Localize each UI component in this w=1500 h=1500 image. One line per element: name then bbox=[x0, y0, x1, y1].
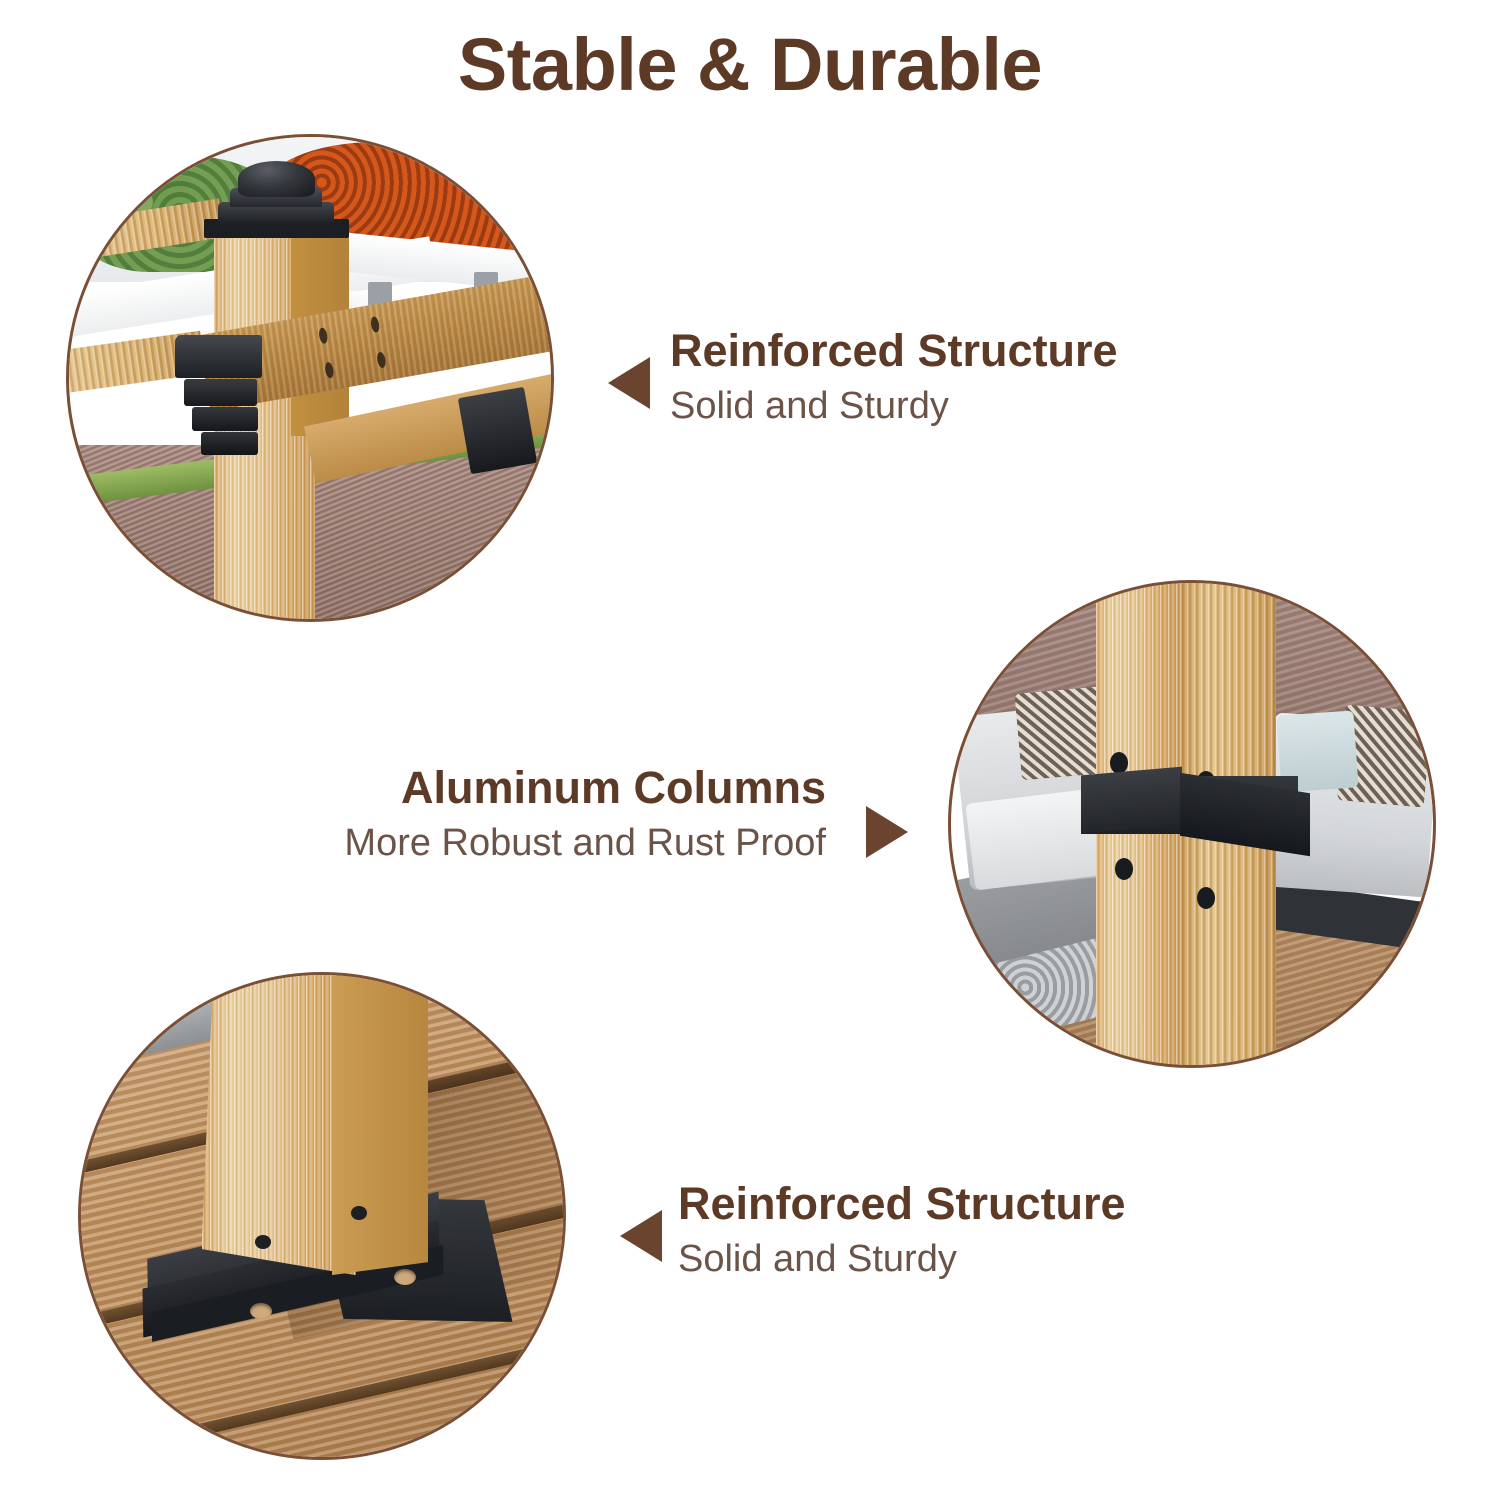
bolt-hole bbox=[376, 351, 387, 368]
callout-reinforced-structure-top: Reinforced Structure Solid and Sturdy bbox=[670, 325, 1118, 430]
callout-aluminum-columns: Aluminum Columns More Robust and Rust Pr… bbox=[266, 762, 826, 867]
bracket-step bbox=[201, 432, 258, 455]
corner-bracket bbox=[175, 335, 262, 456]
scene-base-plate bbox=[81, 975, 563, 1457]
feature-image-reinforced-structure-top bbox=[66, 134, 554, 622]
beam-end-bracket bbox=[458, 387, 538, 475]
feature-image-aluminum-columns bbox=[948, 580, 1436, 1068]
callout-reinforced-structure-bottom: Reinforced Structure Solid and Sturdy bbox=[678, 1178, 1126, 1283]
bracket-top bbox=[175, 335, 262, 378]
arrow-left-icon-reinforced-structure-bottom bbox=[620, 1210, 662, 1262]
arrow-left-icon-reinforced-structure-top bbox=[608, 357, 650, 409]
bolt-hole bbox=[1115, 858, 1133, 880]
bolt-hole bbox=[324, 362, 335, 379]
bolt-hole bbox=[1197, 887, 1215, 909]
infographic-page: Stable & Durable bbox=[0, 0, 1500, 1500]
scene-post-cap-bracket bbox=[69, 137, 551, 619]
callout-subtitle: More Robust and Rust Proof bbox=[266, 820, 826, 868]
callout-heading: Aluminum Columns bbox=[266, 762, 826, 814]
bracket-step bbox=[184, 379, 258, 406]
arrow-right-icon-aluminum-columns bbox=[866, 806, 908, 858]
feature-image-reinforced-structure-bottom bbox=[78, 972, 566, 1460]
callout-heading: Reinforced Structure bbox=[670, 325, 1118, 377]
page-title: Stable & Durable bbox=[0, 22, 1500, 107]
scene-column-sleeve bbox=[951, 583, 1433, 1065]
callout-heading: Reinforced Structure bbox=[678, 1178, 1126, 1230]
bolt-hole bbox=[255, 1235, 271, 1249]
bolt-hole bbox=[370, 316, 381, 333]
callout-subtitle: Solid and Sturdy bbox=[678, 1236, 1126, 1284]
bolt-hole bbox=[318, 327, 329, 344]
sleeve-face-left bbox=[1081, 767, 1182, 834]
post-cap-dome-icon bbox=[238, 161, 315, 197]
callout-subtitle: Solid and Sturdy bbox=[670, 383, 1118, 431]
bolt-hole bbox=[1110, 752, 1128, 774]
bracket-step bbox=[192, 407, 258, 431]
aluminum-column-base-side bbox=[332, 975, 428, 1288]
anchor-hole bbox=[250, 1303, 272, 1319]
